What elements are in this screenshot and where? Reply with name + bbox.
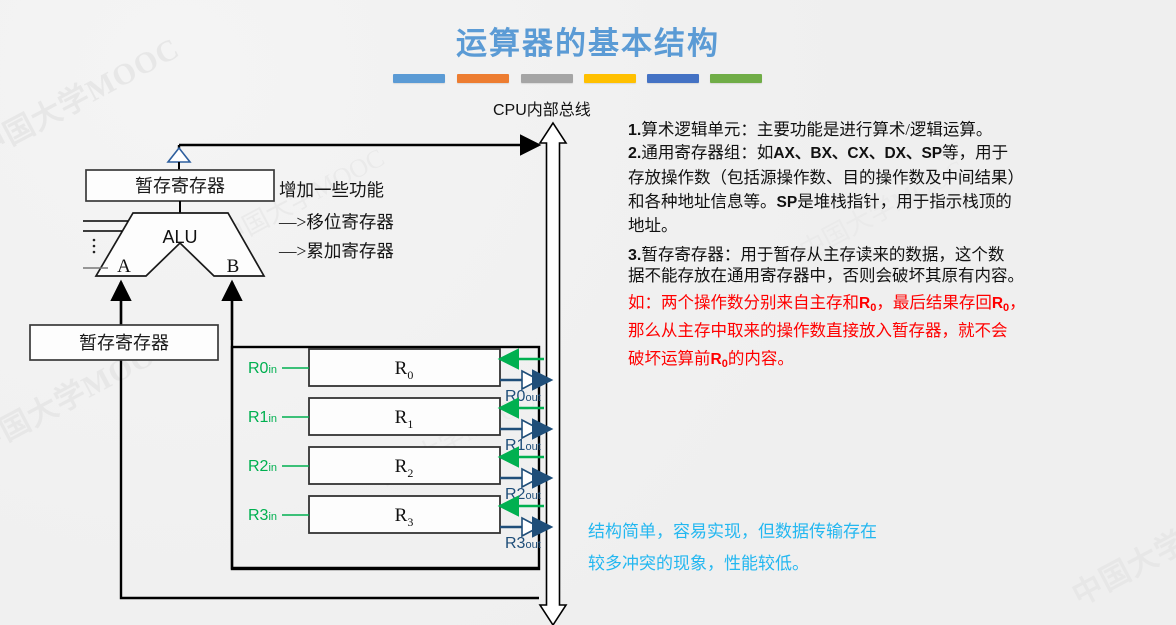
temp-register-left-label: 暂存寄存器 [79, 333, 169, 353]
body-item-2-line4: 地址。 [628, 214, 1176, 238]
red-note-line-2: 那么从主存中取来的操作数直接放入暂存器，就不会 [628, 319, 1176, 343]
register-row-r2: R2 R2in R2out [248, 447, 551, 503]
body-item-3-text-1: 暂存寄存器：用于暂存从主存读来的数据，这个数 [641, 245, 1004, 264]
red-note-1-b: ，最后结果存回 [876, 293, 992, 312]
register-row-r3: R3 R3in R3out [248, 496, 551, 552]
temp-register-top-box: 暂存寄存器 [86, 170, 274, 201]
register-out-label-r3: R3out [505, 535, 541, 552]
summary-line-2: 较多冲突的现象，性能较低。 [588, 548, 988, 580]
red-note-3-b: 的内容。 [728, 349, 794, 368]
red-note-line-3: 破坏运算前R0的内容。 [628, 347, 1176, 377]
body-item-1-number: 1. [628, 122, 641, 139]
summary-line-1: 结构简单，容易实现，但数据传输存在 [588, 516, 988, 548]
temp-register-top-label: 暂存寄存器 [135, 176, 225, 196]
body-item-2-text-a: 通用寄存器组：如 [641, 143, 773, 162]
register-row-r0: R0 R0in R0out [248, 349, 551, 405]
register-out-label-r0: R0out [505, 388, 541, 405]
register-in-label-r0: R0in [248, 360, 277, 377]
alu-label: ALU [162, 227, 197, 247]
alu-port-b-label: B [227, 256, 240, 277]
register-in-label-r1: R1in [248, 409, 277, 426]
cpu-internal-bus [540, 123, 566, 625]
red-note-line-1: 如：两个操作数分别来自主存和R0，最后结果存回R0， [628, 291, 1176, 321]
register-row-r1: R1 R1in R1out [248, 398, 551, 454]
slide-canvas: 中国大学MOOC 中国大学MOOC 中国大学MOOC 中国大学MOOC 中国大学… [0, 0, 1176, 625]
alu-output-to-bus-wire [179, 145, 539, 155]
red-note-3-a: 破坏运算前 [628, 349, 711, 368]
register-out-label-r1: R1out [505, 437, 541, 454]
body-item-2-line3-b: 是堆栈指针，用于指示栈顶的 [797, 192, 1012, 211]
red-note-1-c: ， [1009, 293, 1026, 312]
body-item-3-line2: 据不能存放在通用寄存器中，否则会破坏其原有内容。 [628, 264, 1176, 288]
body-item-2-registers: AX、BX、CX、DX、SP [773, 145, 942, 162]
register-in-label-r2: R2in [248, 458, 277, 475]
body-item-1: 1.算术逻辑单元：主要功能是进行算术/逻辑运算。 [628, 118, 1176, 143]
body-item-2-line3: 和各种地址信息等。SP是堆栈指针，用于指示栈顶的 [628, 190, 1176, 215]
body-item-2-line1: 2.通用寄存器组：如AX、BX、CX、DX、SP等，用于 [628, 141, 1176, 166]
body-item-3-number: 3. [628, 247, 641, 264]
alu-unit: ALU A B [96, 213, 264, 277]
body-item-1-text: 算术逻辑单元：主要功能是进行算术/逻辑运算。 [641, 120, 992, 139]
register-out-label-r2: R2out [505, 486, 541, 503]
body-item-2-line2: 存放操作数（包括源操作数、目的操作数及中间结果） [628, 166, 1176, 190]
red-note-3-r0: R0 [711, 351, 728, 368]
body-item-2-number: 2. [628, 145, 641, 162]
red-note-1-r0-second: R0 [992, 295, 1009, 312]
tristate-buffer-icon [168, 148, 190, 170]
red-note-1-r0: R0 [859, 295, 876, 312]
red-note-1-a: 如：两个操作数分别来自主存和 [628, 293, 859, 312]
body-item-2-sp: SP [777, 194, 798, 211]
summary-text: 结构简单，容易实现，但数据传输存在 较多冲突的现象，性能较低。 [588, 516, 988, 580]
alu-port-a-label: A [117, 256, 131, 277]
register-in-label-r3: R3in [248, 507, 277, 524]
body-item-2-text-b: 等，用于 [942, 143, 1008, 162]
body-item-2-line3-a: 和各种地址信息等。 [628, 192, 777, 211]
temp-register-left-box: 暂存寄存器 [30, 325, 218, 360]
